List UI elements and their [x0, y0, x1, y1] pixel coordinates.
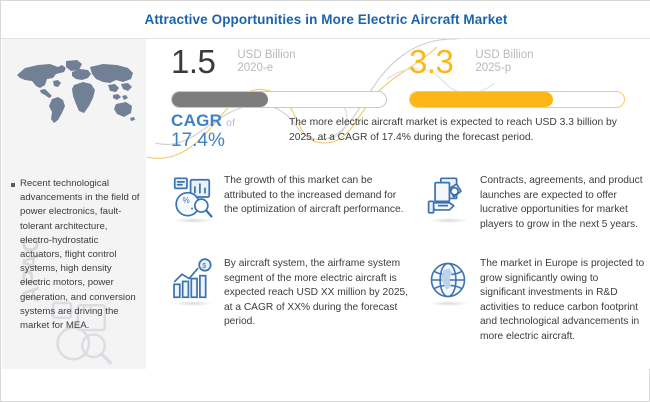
cagr-of-label: of — [226, 118, 235, 129]
sidebar-bullet-item: Recent technological advancements in the… — [11, 177, 141, 333]
kpi-base-unit-line2: 2020-e — [237, 62, 295, 75]
svg-text:%: % — [183, 196, 190, 205]
icon-shadow — [173, 301, 213, 306]
kpi-forecast-value: 3.3 — [409, 45, 453, 79]
kpi-base-unit-line1: USD Billion — [237, 49, 295, 62]
kpi-forecast-progress-fill — [410, 92, 553, 107]
kpi-base-progress-fill — [172, 92, 268, 107]
kpi-forecast-year: 3.3 USD Billion 2025-p — [409, 45, 631, 108]
kpi-base-year: 1.5 USD Billion 2020-e — [171, 45, 393, 108]
cagr-label: CAGR — [171, 111, 222, 130]
market-summary-text: The more electric aircraft market is exp… — [289, 115, 641, 145]
info-card-contracts-text: Contracts, agreements, and product launc… — [480, 174, 645, 232]
handshake-documents-icon — [425, 174, 471, 220]
info-card-europe: The market in Europe is projected to gro… — [425, 257, 645, 345]
cagr-label-row: CAGRof — [171, 111, 281, 131]
kpi-base-progress-track — [171, 91, 387, 108]
svg-text:$: $ — [202, 262, 206, 270]
infographic-frame: Attractive Opportunities in More Electri… — [0, 0, 650, 402]
globe-icon — [425, 257, 471, 303]
info-card-growth-text: The growth of this market can be attribu… — [224, 174, 409, 220]
kpi-forecast-unit-line1: USD Billion — [475, 49, 533, 62]
kpi-base-unit: USD Billion 2020-e — [237, 49, 295, 75]
info-card-airframe: $ By aircraft system, the airframe syste… — [169, 257, 409, 330]
kpi-base-value: 1.5 — [171, 45, 215, 79]
kpi-forecast-unit: USD Billion 2025-p — [475, 49, 533, 75]
magnifier-chart-icon: % — [169, 174, 215, 220]
icon-shadow — [429, 301, 469, 306]
cagr-block: CAGRof 17.4% — [171, 111, 281, 152]
bullet-square-icon — [11, 183, 15, 187]
page-title: Attractive Opportunities in More Electri… — [144, 12, 507, 27]
main-stage: 1.5 USD Billion 2020-e 3.3 USD Billion 2… — [147, 39, 650, 369]
icon-shadow — [173, 218, 213, 223]
kpi-forecast-progress-track — [409, 91, 625, 108]
bar-chart-dollar-icon: $ — [169, 257, 215, 303]
info-card-contracts: Contracts, agreements, and product launc… — [425, 174, 645, 232]
info-card-airframe-text: By aircraft system, the airframe system … — [224, 257, 409, 330]
icon-shadow — [429, 218, 469, 223]
cagr-value: 17.4% — [171, 130, 281, 152]
header-bar: Attractive Opportunities in More Electri… — [1, 1, 650, 38]
regional-sidebar: APAC Recent technological advancements i… — [2, 39, 146, 369]
world-map-icon — [10, 53, 140, 131]
kpi-forecast-unit-line2: 2025-p — [475, 62, 533, 75]
info-card-europe-text: The market in Europe is projected to gro… — [480, 257, 645, 345]
info-card-growth: % The growth of this market can be attri… — [169, 174, 409, 220]
sidebar-bullet-text: Recent technological advancements in the… — [20, 177, 141, 333]
